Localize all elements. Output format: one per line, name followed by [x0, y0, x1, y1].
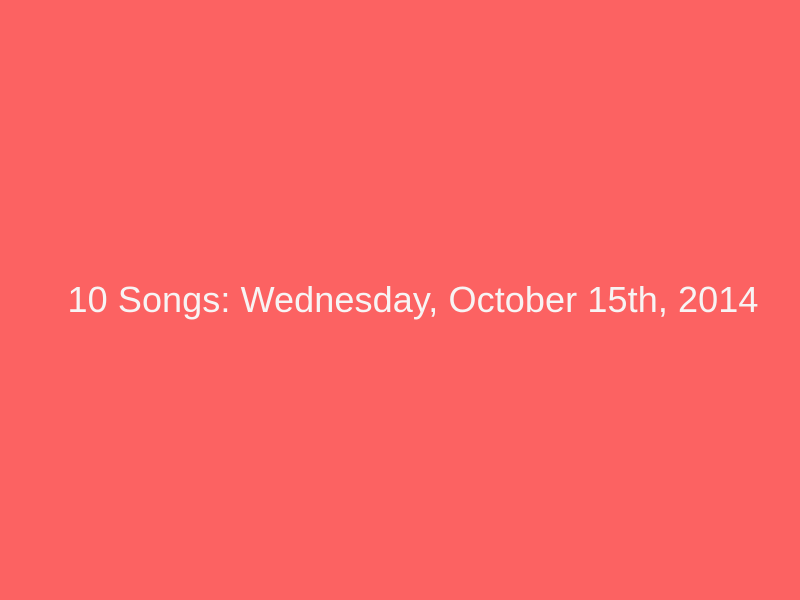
page-title: 10 Songs: Wednesday, October 15th, 2014	[67, 278, 758, 321]
headline-container: 10 Songs: Wednesday, October 15th, 2014	[0, 0, 800, 600]
placeholder-card: 10 Songs: Wednesday, October 15th, 2014	[0, 0, 800, 600]
